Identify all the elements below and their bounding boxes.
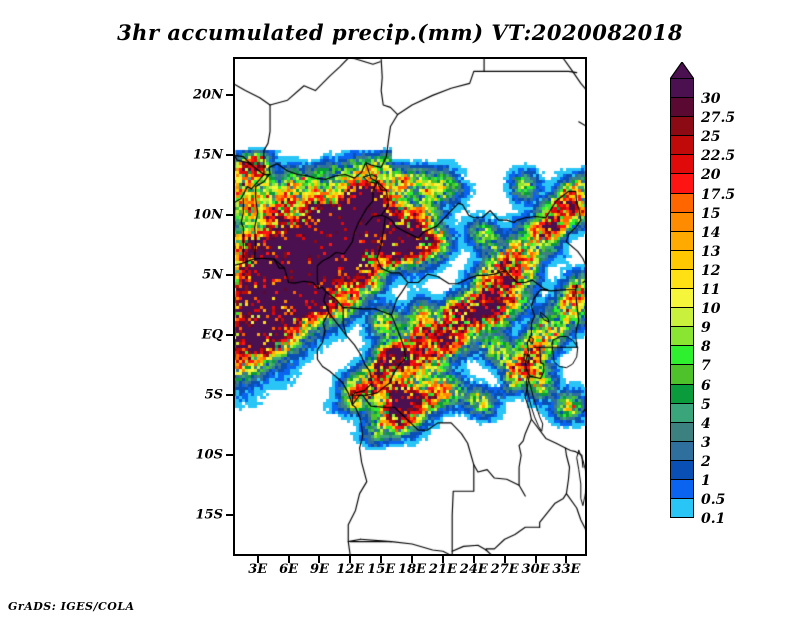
colorbar-tick-label: 15 [701,207,720,221]
lat-tick-label: 5S [205,388,223,403]
lon-tick-label: 6E [279,562,298,577]
lat-tick-label: EQ [202,328,223,343]
colorbar-tick-label: 1 [701,474,711,488]
lon-tick-label: 12E [336,562,364,577]
colorbar-segment: 6 [670,364,694,384]
colorbar-tick-label: 2 [701,455,711,469]
page-title: 3hr accumulated precip.(mm) VT:202008201… [0,20,800,45]
colorbar-tick-label: 27.5 [701,111,735,125]
colorbar-tick-label: 30 [701,92,720,106]
colorbar-tick-label: 17.5 [701,188,735,202]
colorbar-tick-label: 5 [701,398,711,412]
lon-tick-label: 21E [429,562,457,577]
colorbar-segment: 7 [670,345,694,365]
colorbar-segment: 3 [670,422,694,442]
lon-tick-label: 18E [398,562,426,577]
credit-label: GrADS: IGES/COLA [8,600,135,613]
colorbar-tick-label: 10 [701,302,720,316]
colorbar-tick-label: 13 [701,245,720,259]
lat-tick [226,514,233,516]
lat-tick [226,454,233,456]
colorbar-segment: 14 [670,212,694,232]
lat-tick [226,394,233,396]
colorbar-tick-label: 9 [701,321,711,335]
lat-tick-label: 15N [193,148,223,163]
colorbar-segment: 25 [670,116,694,136]
colorbar-segment: 20 [670,154,694,174]
colorbar-segment: 9 [670,307,694,327]
colorbar-segment: 11 [670,269,694,289]
colorbar-tick-label: 0.1 [701,512,725,526]
lat-tick [226,154,233,156]
colorbar-segment: 27.5 [670,97,694,117]
lon-tick-label: 33E [552,562,580,577]
lon-tick-label: 27E [491,562,519,577]
colorbar-over-arrow [670,62,694,79]
map-plot-area: 20N15N10N5NEQ5S10S15S 3E6E9E12E15E18E21E… [233,57,587,556]
colorbar-tick-label: 22.5 [701,149,735,163]
colorbar-tick-label: 20 [701,168,720,182]
colorbar-tick-label: 11 [701,283,720,297]
colorbar-segment: 2 [670,441,694,461]
lat-tick-label: 10N [193,208,223,223]
colorbar-tick-label: 6 [701,379,711,393]
colorbar-segment: 1 [670,460,694,480]
colorbar-segment: 5 [670,384,694,404]
lat-tick [226,94,233,96]
colorbar-segment: 4 [670,403,694,423]
lon-tick-label: 30E [522,562,550,577]
colorbar-segment: 22.5 [670,135,694,155]
colorbar-segment: 0.1 [670,498,694,518]
colorbar-tick-label: 12 [701,264,720,278]
lon-tick-label: 3E [248,562,267,577]
lat-tick [226,214,233,216]
colorbar-segment: 13 [670,231,694,251]
lat-tick-label: 20N [193,88,223,103]
lon-tick-label: 15E [367,562,395,577]
colorbar-tick-label: 25 [701,130,720,144]
lon-tick-label: 9E [310,562,329,577]
colorbar-tick-label: 3 [701,436,711,450]
colorbar-tick-label: 0.5 [701,493,725,507]
lat-tick-label: 15S [196,508,223,523]
colorbar-tick-label: 14 [701,226,720,240]
colorbar-segment: 10 [670,288,694,308]
colorbar-tick-label: 8 [701,340,711,354]
lon-tick-label: 24E [460,562,488,577]
colorbar-segment: 0.5 [670,479,694,499]
colorbar-tick-label: 4 [701,417,711,431]
colorbar-tick-label: 7 [701,359,711,373]
lat-tick [226,274,233,276]
colorbar-segment: 12 [670,250,694,270]
colorbar-segment: 30 [670,78,694,98]
colorbar-segment: 17.5 [670,173,694,193]
lat-tick-label: 10S [196,448,223,463]
colorbar-segment: 8 [670,326,694,346]
plot-frame [233,57,587,556]
lat-tick [226,334,233,336]
colorbar-segment: 15 [670,193,694,213]
colorbar: 3027.52522.52017.51514131211109876543210… [670,78,694,517]
lat-tick-label: 5N [202,268,223,283]
